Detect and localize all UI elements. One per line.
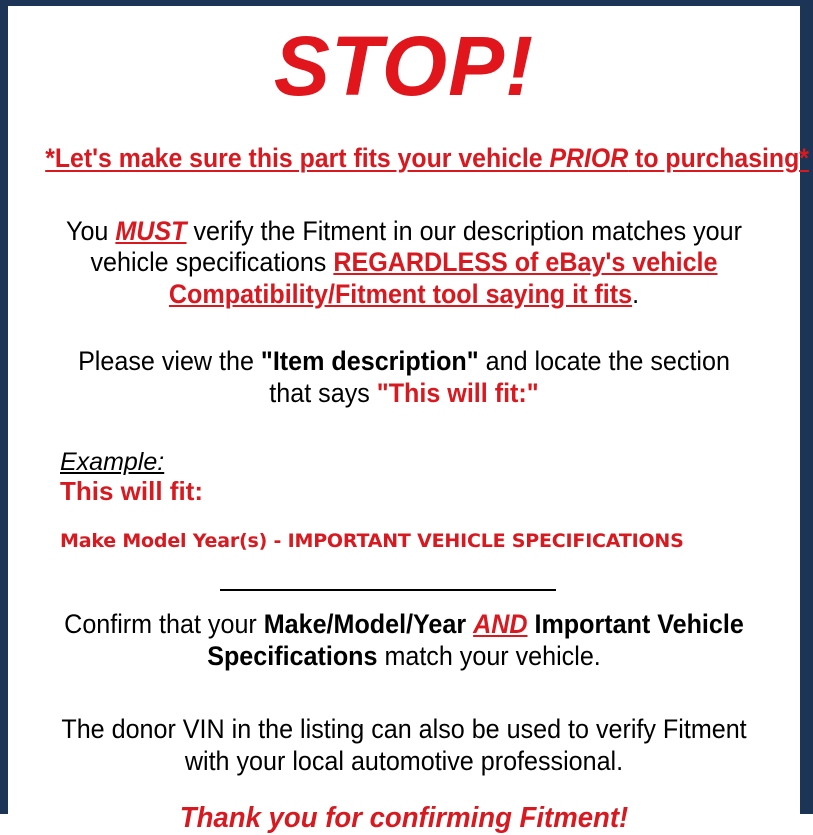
example-block: Example: This will fit: Make Model Year(…	[14, 448, 794, 553]
divider-rule	[220, 589, 556, 591]
example-label: Example:	[60, 448, 164, 476]
confirm-seg1: Confirm that your	[64, 609, 264, 639]
must-emphasis: MUST	[115, 216, 186, 246]
subtitle-after: to purchasing*	[628, 143, 809, 173]
fitment-notice-frame: STOP! *Let's make sure this part fits yo…	[0, 0, 813, 814]
paragraph-donor-vin: The donor VIN in the listing can also be…	[41, 714, 766, 777]
must-para-seg1: You	[66, 216, 115, 246]
fitment-notice-body: STOP! *Let's make sure this part fits yo…	[8, 24, 800, 814]
item-description-emphasis: "Item description"	[261, 346, 479, 376]
subtitle-prior-emphasis: PRIOR	[549, 143, 628, 173]
paragraph-must-verify: You MUST verify the Fitment in our descr…	[41, 216, 766, 311]
confirm-seg5: match your vehicle.	[377, 641, 600, 671]
example-spec-line: Make Model Year(s) - IMPORTANT VEHICLE S…	[60, 530, 794, 552]
this-will-fit-emphasis: "This will fit:"	[377, 378, 539, 408]
example-fit-heading: This will fit:	[60, 477, 794, 506]
paragraph-item-description: Please view the "Item description" and l…	[41, 346, 766, 409]
make-model-year-emphasis: Make/Model/Year	[264, 609, 466, 639]
and-emphasis: AND	[473, 609, 527, 639]
thank-you-line: Thank you for confirming Fitment!	[34, 803, 775, 835]
paragraph-confirm-match: Confirm that your Make/Model/Year AND Im…	[41, 609, 766, 672]
subtitle-line: *Let's make sure this part fits your veh…	[45, 144, 763, 174]
example-label-row: Example:	[60, 448, 794, 476]
desc-para-seg1: Please view the	[78, 346, 261, 376]
subtitle-before: *Let's make sure this part fits your veh…	[45, 143, 549, 173]
must-para-seg5: .	[632, 279, 639, 309]
divider-rule-wrap	[14, 578, 794, 581]
stop-headline: STOP!	[14, 24, 794, 108]
